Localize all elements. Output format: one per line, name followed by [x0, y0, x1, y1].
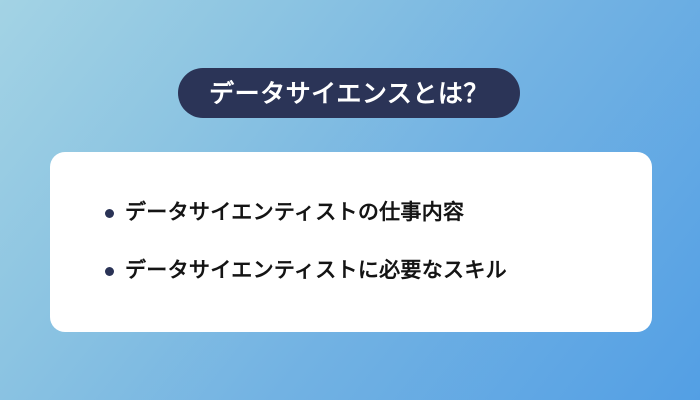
page-title: データサイエンスとは？: [209, 81, 489, 106]
content-card: データサイエンティストの仕事内容 データサイエンティストに必要なスキル: [50, 152, 652, 332]
title-badge: データサイエンスとは？: [178, 68, 520, 118]
list-item: データサイエンティストに必要なスキル: [105, 242, 622, 300]
bullet-dot-icon: [105, 209, 114, 218]
list-item-label: データサイエンティストの仕事内容: [125, 200, 464, 225]
bullet-dot-icon: [105, 267, 114, 276]
agenda-list: データサイエンティストの仕事内容 データサイエンティストに必要なスキル: [105, 184, 622, 300]
slide-canvas: データサイエンスとは？ データサイエンティストの仕事内容 データサイエンティスト…: [0, 0, 700, 400]
list-item-label: データサイエンティストに必要なスキル: [125, 258, 507, 283]
list-item: データサイエンティストの仕事内容: [105, 184, 622, 242]
